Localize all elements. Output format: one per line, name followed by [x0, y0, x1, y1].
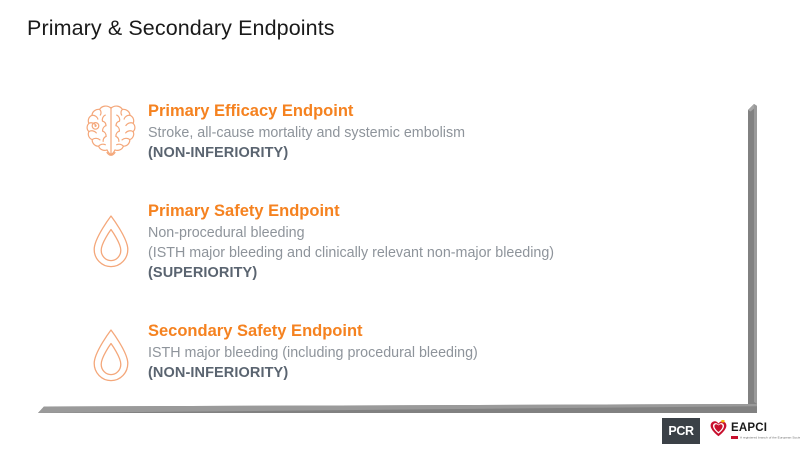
endpoint-row: Secondary Safety Endpoint ISTH major ble… [74, 320, 478, 385]
eapci-name: EAPCI [731, 423, 800, 435]
endpoint-description-line: (ISTH major bleeding and clinically rele… [148, 243, 554, 263]
slide-canvas: Primary & Secondary Endpoints [0, 0, 800, 450]
pcr-logo: PCR [662, 418, 700, 444]
endpoint-heading: Primary Efficacy Endpoint [148, 100, 465, 123]
eapci-subtitle-row: A registered branch of the European Soci… [731, 436, 800, 439]
endpoint-text-block: Primary Safety Endpoint Non-procedural b… [148, 200, 554, 285]
endpoint-description-line: ISTH major bleeding (including procedura… [148, 343, 478, 363]
pcr-logo-text: PCR [668, 424, 693, 438]
endpoint-text-block: Primary Efficacy Endpoint Stroke, all-ca… [148, 100, 465, 165]
logo-bar: PCR EAPCI A registered branch of the Eur… [662, 418, 800, 444]
eapci-logo: EAPCI A registered branch of the Europea… [709, 419, 800, 443]
endpoint-row: Primary Efficacy Endpoint Stroke, all-ca… [74, 100, 465, 165]
eapci-wordmark: EAPCI A registered branch of the Europea… [731, 423, 800, 440]
endpoint-row: Primary Safety Endpoint Non-procedural b… [74, 200, 554, 285]
blood-drop-icon [74, 320, 148, 384]
endpoint-statistical-note: (NON-INFERIORITY) [148, 143, 465, 165]
endpoint-heading: Secondary Safety Endpoint [148, 320, 478, 343]
brain-icon [74, 100, 148, 160]
endpoint-description-line: Stroke, all-cause mortality and systemic… [148, 123, 465, 143]
endpoint-statistical-note: (SUPERIORITY) [148, 263, 554, 285]
endpoint-heading: Primary Safety Endpoint [148, 200, 554, 223]
eapci-heart-icon [709, 419, 728, 443]
endpoint-text-block: Secondary Safety Endpoint ISTH major ble… [148, 320, 478, 385]
blood-drop-icon [74, 200, 148, 270]
eapci-subtitle: A registered branch of the European Soci… [740, 435, 800, 439]
endpoint-statistical-note: (NON-INFERIORITY) [148, 363, 478, 385]
endpoint-list: Primary Efficacy Endpoint Stroke, all-ca… [0, 0, 800, 450]
endpoint-description-line: Non-procedural bleeding [148, 223, 554, 243]
eapci-subtitle-bar-icon [731, 436, 738, 439]
